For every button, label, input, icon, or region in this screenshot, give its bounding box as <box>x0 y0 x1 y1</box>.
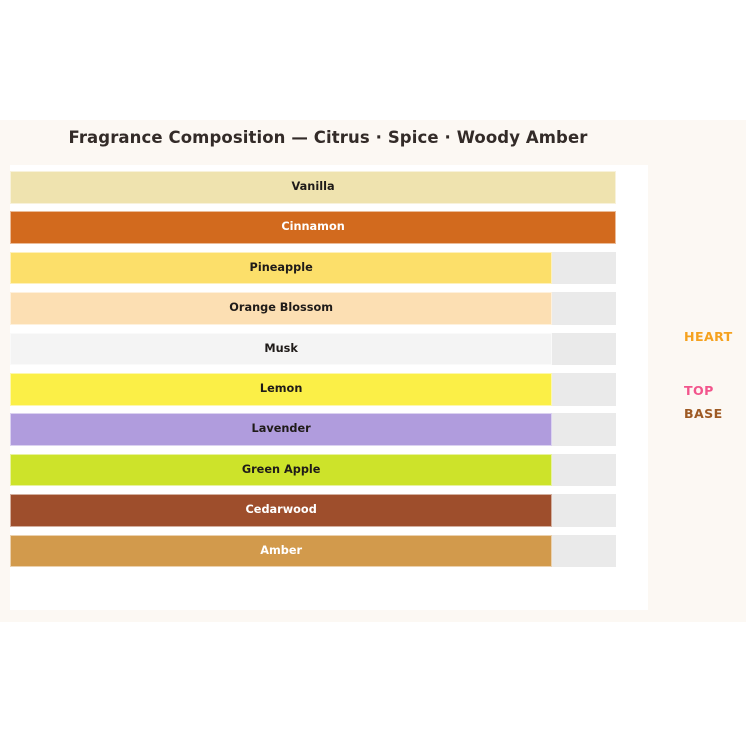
bar-row: Vanilla <box>10 167 648 207</box>
bar-musk[interactable] <box>10 333 552 366</box>
legend-item-base[interactable]: BASE <box>684 406 723 421</box>
bar-row: Lemon <box>10 369 648 409</box>
bar-row: Orange Blossom <box>10 288 648 328</box>
bar-row: Cinnamon <box>10 207 648 247</box>
bar-row: Lavender <box>10 409 648 449</box>
bar-lemon[interactable] <box>10 373 552 406</box>
bar-row: Green Apple <box>10 450 648 490</box>
bar-orange-blossom[interactable] <box>10 292 552 325</box>
bar-cinnamon[interactable] <box>10 211 616 244</box>
chart-figure: Fragrance Composition — Citrus · Spice ·… <box>0 120 746 622</box>
bar-green-apple[interactable] <box>10 454 552 487</box>
bar-lavender[interactable] <box>10 413 552 446</box>
chart-title: Fragrance Composition — Citrus · Spice ·… <box>0 128 656 147</box>
bar-cedarwood[interactable] <box>10 494 552 527</box>
bar-row: Amber <box>10 531 648 571</box>
bar-row: Pineapple <box>10 248 648 288</box>
bar-row: Cedarwood <box>10 490 648 530</box>
plot-area: VanillaCinnamonPineappleOrange BlossomMu… <box>10 165 648 610</box>
bar-pineapple[interactable] <box>10 252 552 285</box>
legend-item-top[interactable]: TOP <box>684 383 714 398</box>
bar-row: Musk <box>10 329 648 369</box>
bar-vanilla[interactable] <box>10 171 616 204</box>
legend-item-heart[interactable]: HEART <box>684 329 733 344</box>
bar-amber[interactable] <box>10 535 552 568</box>
